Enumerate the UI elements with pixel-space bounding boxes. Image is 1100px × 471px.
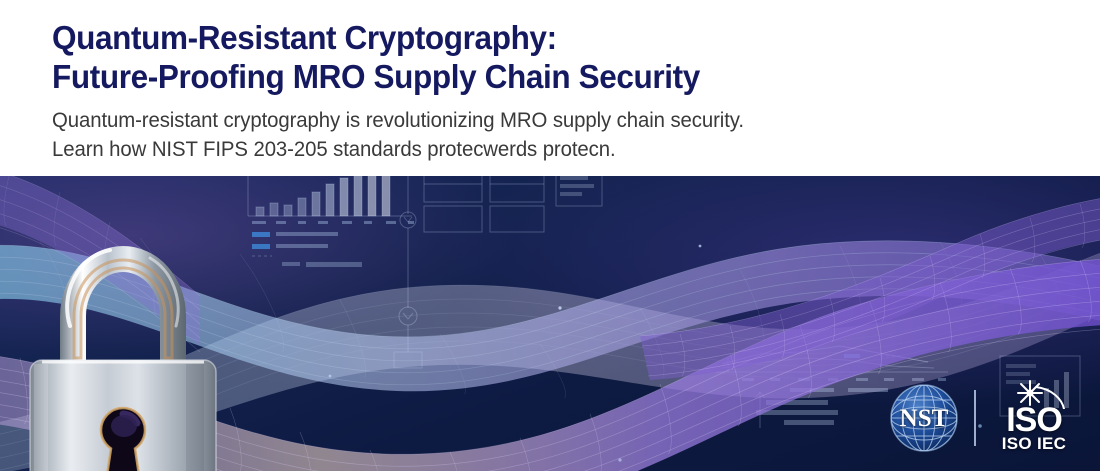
page-title: Quantum-Resistant Cryptography: Future-P… [52, 18, 1015, 96]
header: Quantum-Resistant Cryptography: Future-P… [0, 0, 1100, 176]
iso-badge[interactable]: ISO ISO IEC [990, 381, 1078, 455]
page-subtitle-line-1: Quantum-resistant cryptography is revolu… [52, 106, 1030, 135]
nst-label: NST [888, 406, 960, 431]
page-subtitle-line-2: Learn how NIST FIPS 203-205 standards pr… [52, 135, 1030, 164]
page-title-line-2: Future-Proofing MRO Supply Chain Securit… [52, 57, 1015, 96]
page-title-line-1: Quantum-Resistant Cryptography: [52, 18, 1015, 57]
banner: Quantum-Resistant Cryptography: Future-P… [0, 0, 1100, 471]
nst-badge[interactable]: NST [888, 382, 960, 454]
iso-label: ISO [990, 403, 1078, 437]
background-bar-chart [248, 176, 414, 267]
iso-sublabel: ISO IEC [990, 435, 1078, 452]
certification-badges: NST ISO ISO IEC [888, 381, 1078, 455]
badge-divider [974, 390, 976, 446]
hero-image: NST ISO ISO IEC [0, 176, 1100, 471]
background-grid-panels [424, 176, 602, 232]
page-subtitle: Quantum-resistant cryptography is revolu… [52, 106, 1030, 164]
